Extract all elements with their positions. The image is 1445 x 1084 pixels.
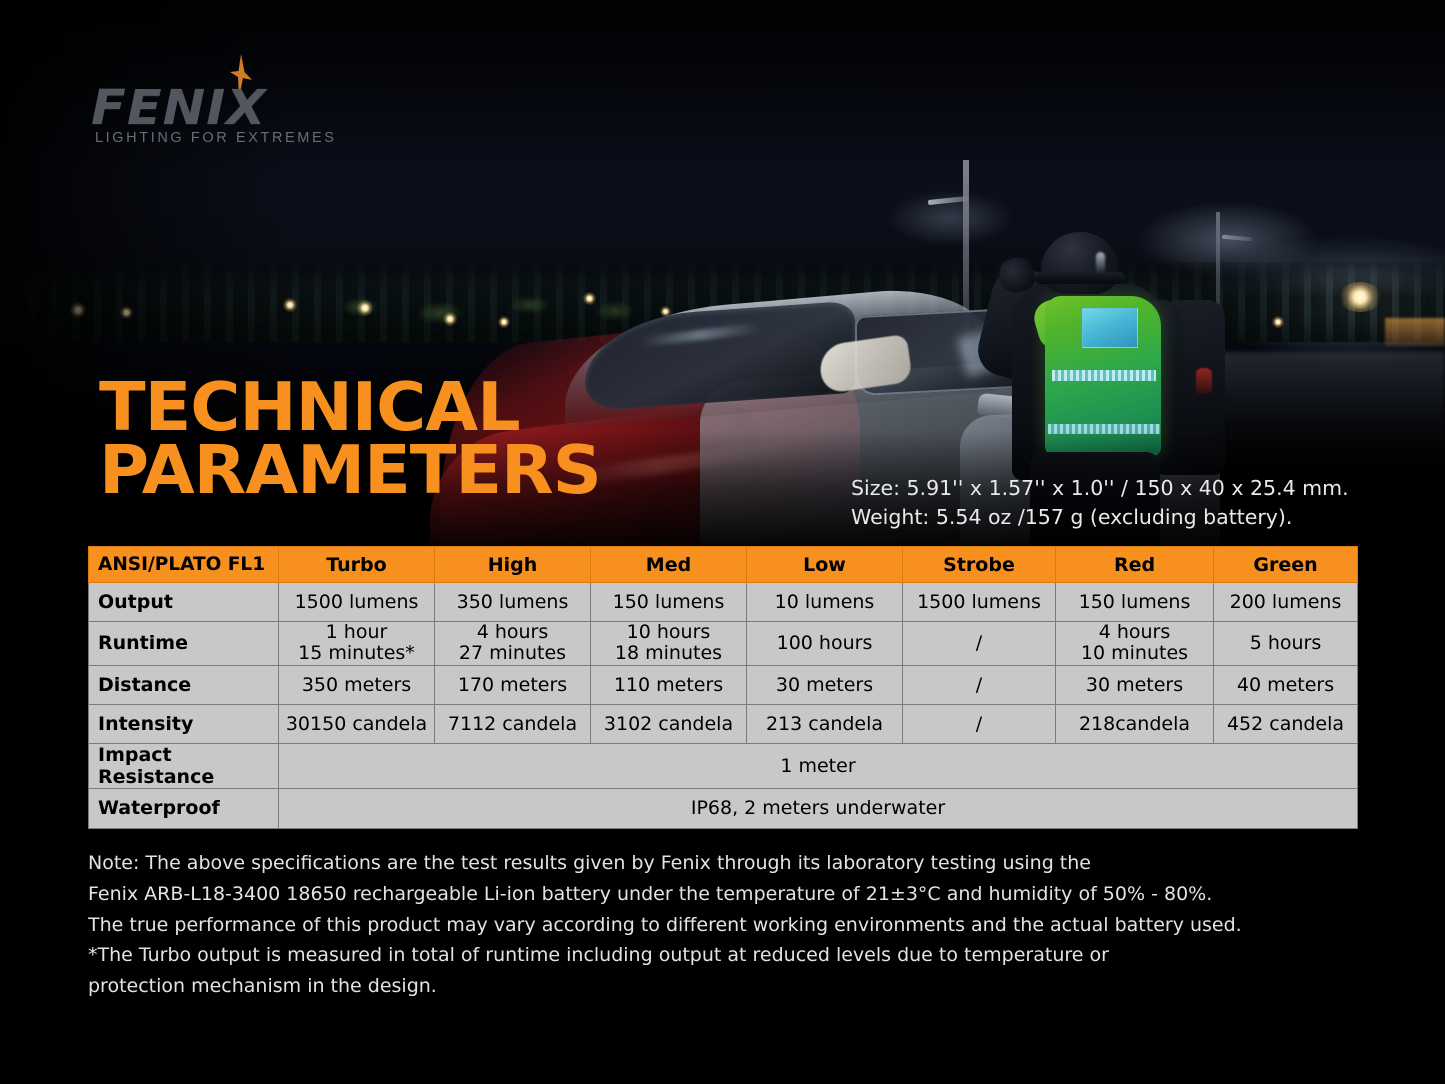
cell-output-low: 10 lumens — [747, 583, 903, 622]
cell-output-turbo: 1500 lumens — [279, 583, 435, 622]
note-line: The true performance of this product may… — [88, 910, 1348, 941]
cell-distance-strobe: / — [903, 665, 1056, 704]
col-header-standard: ANSI/PLATO FL1 — [89, 547, 279, 583]
col-header-green: Green — [1214, 547, 1358, 583]
col-header-high: High — [435, 547, 591, 583]
streetlight-icon — [1338, 282, 1382, 312]
cell-runtime-red: 4 hours10 minutes — [1056, 622, 1214, 666]
cell-output-med: 150 lumens — [591, 583, 747, 622]
table-header-row: ANSI/PLATO FL1 Turbo High Med Low Strobe… — [89, 547, 1358, 583]
helmet-brim — [1035, 272, 1125, 284]
cell-intensity-high: 7112 candela — [435, 704, 591, 743]
logo-tagline: LIGHTING FOR EXTREMES — [95, 130, 337, 146]
cell-output-high: 350 lumens — [435, 583, 591, 622]
cell-intensity-green: 452 candela — [1214, 704, 1358, 743]
backpack-detail — [1196, 368, 1212, 394]
officer-helmet — [1041, 232, 1119, 294]
lamp-arm — [1222, 235, 1252, 242]
size-text: Size: 5.91'' x 1.57'' x 1.0'' / 150 x 40… — [851, 474, 1349, 503]
col-header-strobe: Strobe — [903, 547, 1056, 583]
table-row: Intensity 30150 candela 7112 candela 310… — [89, 704, 1358, 743]
footnote-block: Note: The above specifications are the t… — [88, 848, 1348, 1002]
row-label-waterproof: Waterproof — [89, 788, 279, 828]
cell-intensity-red: 218candela — [1056, 704, 1214, 743]
table-header: ANSI/PLATO FL1 Turbo High Med Low Strobe… — [89, 547, 1358, 583]
row-label-intensity: Intensity — [89, 704, 279, 743]
streetlight-icon — [443, 312, 457, 326]
cell-runtime-turbo: 1 hour15 minutes* — [279, 622, 435, 666]
row-label-impact-resistance: Impact Resistance — [89, 743, 279, 788]
distant-building — [1385, 318, 1445, 346]
cell-runtime-strobe: / — [903, 622, 1056, 666]
table-row: Distance 350 meters 170 meters 110 meter… — [89, 665, 1358, 704]
col-header-turbo: Turbo — [279, 547, 435, 583]
fenix-logo: FENIX LIGHTING FOR EXTREMES — [91, 62, 351, 152]
row-label-output: Output — [89, 583, 279, 622]
cell-distance-green: 40 meters — [1214, 665, 1358, 704]
cell-runtime-high: 4 hours27 minutes — [435, 622, 591, 666]
table-row: Impact Resistance 1 meter — [89, 743, 1358, 788]
specifications-table: ANSI/PLATO FL1 Turbo High Med Low Strobe… — [88, 546, 1358, 829]
table-body: Output 1500 lumens 350 lumens 150 lumens… — [89, 583, 1358, 829]
cell-intensity-turbo: 30150 candela — [279, 704, 435, 743]
cell-waterproof-value: IP68, 2 meters underwater — [279, 788, 1358, 828]
product-spec-page: FENIX LIGHTING FOR EXTREMES TECHNICAL PA… — [0, 0, 1445, 1084]
product-dimensions: Size: 5.91'' x 1.57'' x 1.0'' / 150 x 40… — [851, 474, 1349, 532]
page-title-line2: PARAMETERS — [99, 439, 601, 502]
note-line: *The Turbo output is measured in total o… — [88, 940, 1348, 971]
cell-intensity-low: 213 candela — [747, 704, 903, 743]
row-label-runtime: Runtime — [89, 622, 279, 666]
cell-runtime-green: 5 hours — [1214, 622, 1358, 666]
note-line: Note: The above specifications are the t… — [88, 848, 1348, 879]
cell-distance-low: 30 meters — [747, 665, 903, 704]
cell-distance-med: 110 meters — [591, 665, 747, 704]
table-row: Waterproof IP68, 2 meters underwater — [89, 788, 1358, 828]
col-header-med: Med — [591, 547, 747, 583]
cell-intensity-med: 3102 candela — [591, 704, 747, 743]
spec-table-container: ANSI/PLATO FL1 Turbo High Med Low Strobe… — [88, 546, 1357, 829]
cell-output-red: 150 lumens — [1056, 583, 1214, 622]
streetlight-icon — [357, 300, 373, 316]
col-header-low: Low — [747, 547, 903, 583]
page-title: TECHNICAL PARAMETERS — [99, 376, 601, 502]
cell-distance-turbo: 350 meters — [279, 665, 435, 704]
cell-impact-resistance-value: 1 meter — [279, 743, 1358, 788]
cell-intensity-strobe: / — [903, 704, 1056, 743]
streetlight-icon — [1272, 316, 1284, 328]
cell-output-strobe: 1500 lumens — [903, 583, 1056, 622]
col-header-red: Red — [1056, 547, 1214, 583]
table-row: Output 1500 lumens 350 lumens 150 lumens… — [89, 583, 1358, 622]
cell-distance-high: 170 meters — [435, 665, 591, 704]
cell-distance-red: 30 meters — [1056, 665, 1214, 704]
vest-patch — [1082, 308, 1138, 348]
note-line: Fenix ARB-L18-3400 18650 rechargeable Li… — [88, 879, 1348, 910]
table-row: Runtime 1 hour15 minutes* 4 hours27 minu… — [89, 622, 1358, 666]
vest-reflective-strip — [1052, 370, 1156, 381]
row-label-distance: Distance — [89, 665, 279, 704]
weight-text: Weight: 5.54 oz /157 g (excluding batter… — [851, 503, 1349, 532]
cell-runtime-low: 100 hours — [747, 622, 903, 666]
logo-wordmark: FENIX — [91, 80, 267, 136]
streetlight-icon — [498, 316, 510, 328]
cell-output-green: 200 lumens — [1214, 583, 1358, 622]
streetlight-icon — [583, 292, 596, 305]
cell-runtime-med: 10 hours18 minutes — [591, 622, 747, 666]
helmet-highlight — [1096, 252, 1105, 274]
note-line: protection mechanism in the design. — [88, 971, 1348, 1002]
